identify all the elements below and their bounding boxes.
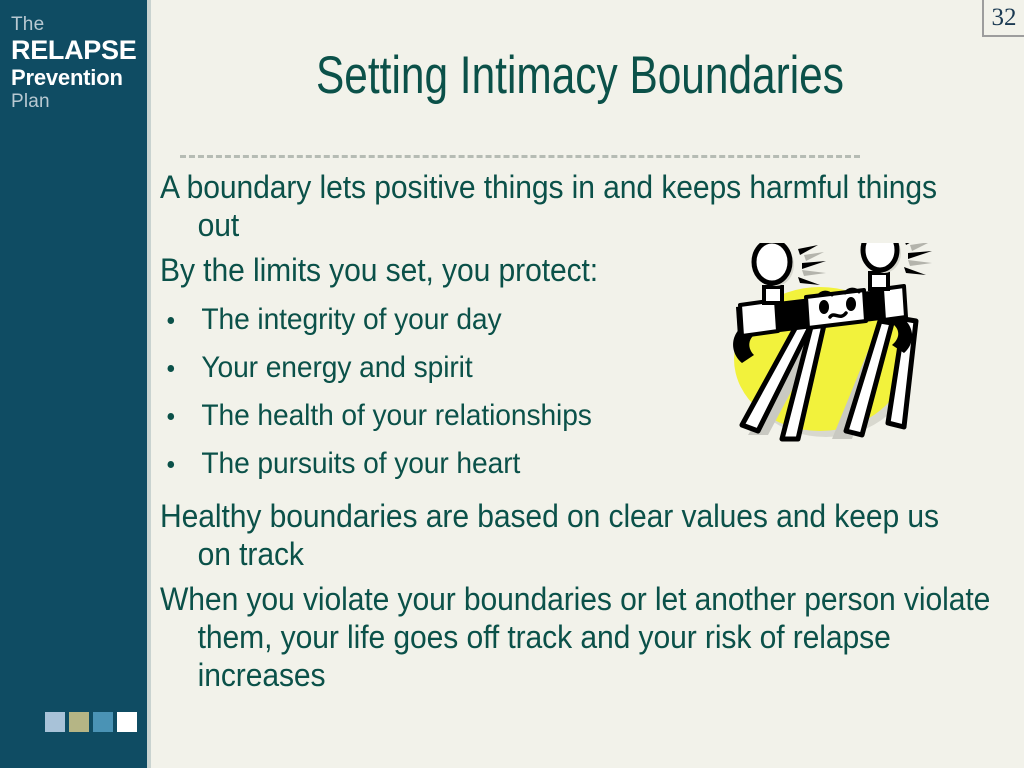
color-swatch-strip [45, 712, 137, 732]
road-barricade-cartoon-icon [706, 243, 934, 443]
swatch-white [117, 712, 137, 732]
bullet-dot-icon [168, 413, 175, 420]
logo-line-plan: Plan [11, 90, 143, 113]
brand-logo: The RELAPSE Prevention Plan [11, 14, 143, 113]
page-number: 32 [992, 5, 1017, 30]
body-paragraph-1: A boundary lets positive things in and k… [160, 168, 940, 244]
bullet-dot-icon [168, 365, 175, 372]
page-number-box: 32 [982, 0, 1024, 37]
title-divider [180, 155, 860, 158]
logo-line-relapse: RELAPSE [11, 36, 143, 65]
bullet-dot-icon [168, 317, 175, 324]
body-paragraph-3: Healthy boundaries are based on clear va… [160, 497, 940, 573]
list-item-label: The health of your relationships [201, 399, 591, 432]
swatch-light-blue [45, 712, 65, 732]
logo-line-the: The [11, 14, 143, 36]
swatch-khaki [69, 712, 89, 732]
swatch-blue [93, 712, 113, 732]
list-item-label: Your energy and spirit [201, 351, 472, 384]
list-item-label: The pursuits of your heart [201, 447, 520, 480]
bullet-dot-icon [168, 461, 175, 468]
logo-line-prevention: Prevention [11, 65, 143, 90]
list-item: The pursuits of your heart [160, 440, 940, 488]
body-paragraph-4: When you violate your boundaries or let … [160, 580, 1006, 694]
sidebar-edge-strip [147, 0, 151, 768]
page-title: Setting Intimacy Boundaries [244, 46, 916, 106]
list-item-label: The integrity of your day [201, 303, 501, 336]
brand-sidebar [0, 0, 147, 768]
slide-canvas: The RELAPSE Prevention Plan 32 Setting I… [0, 0, 1024, 768]
